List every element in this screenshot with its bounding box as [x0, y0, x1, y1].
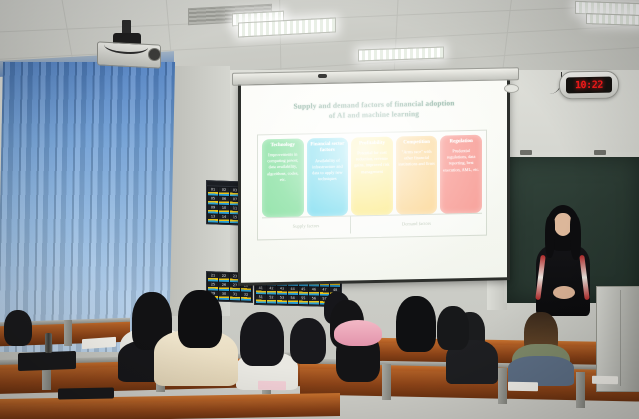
device-slot[interactable]: 32 — [241, 292, 251, 300]
slide-columns: Technology Improvements in computing pow… — [258, 131, 486, 218]
student-head-l2 — [178, 290, 222, 348]
clock-time-text: 10:22 — [575, 79, 603, 90]
student-head-l4-far — [4, 310, 32, 346]
slide-column-technology: Technology Improvements in computing pow… — [262, 138, 304, 217]
device-slot[interactable]: 54 — [288, 296, 298, 304]
projection-screen: Supply and demand factors of financial a… — [241, 79, 507, 283]
clock-display: 10:22 — [566, 77, 612, 94]
desk-row-right-post-b — [498, 368, 507, 404]
slide-column-regulation: Regulation Prudential regulations, data … — [440, 135, 482, 214]
column-body: "Arms race" with other financial institu… — [398, 149, 436, 168]
device-slot[interactable]: 56 — [309, 296, 319, 304]
slide-column-financial-sector-factors: Financial sector factors Availability of… — [307, 138, 349, 217]
presenter-hair-strand-right — [570, 216, 581, 260]
device-slot[interactable]: 14 — [219, 215, 229, 223]
chalkboard-clip-right-icon — [594, 150, 606, 155]
device-slot[interactable]: 02 — [219, 188, 229, 196]
slide-column-profitability: Profitability Potential for cost reducti… — [351, 137, 393, 216]
paper-sheet-right[interactable] — [592, 376, 618, 384]
projector-lens-icon — [148, 48, 161, 61]
paper-sheet-mid[interactable] — [508, 382, 538, 392]
lectern-edge — [620, 290, 621, 386]
device-slot[interactable]: 21 — [208, 273, 218, 281]
device-slot[interactable]: 41 — [256, 286, 266, 294]
paper-sheet-pink[interactable] — [258, 381, 286, 390]
pink-beret-hat — [334, 320, 382, 346]
device-slot[interactable]: 53 — [277, 295, 287, 303]
student-head-r2 — [396, 296, 436, 352]
slide-factor-matrix: Technology Improvements in computing pow… — [257, 130, 487, 241]
device-slot[interactable]: 45 — [299, 287, 309, 295]
device-slot[interactable]: 10 — [219, 206, 229, 214]
device-slot[interactable]: 01 — [208, 187, 218, 195]
thermos-bottle[interactable] — [45, 333, 52, 353]
column-body: Availability of infrastructure and data … — [309, 157, 347, 182]
ceiling-light-5 — [586, 13, 639, 26]
presenter-hair-strand-left — [545, 216, 555, 258]
presenter-hands — [553, 286, 575, 299]
device-slot[interactable]: 06 — [219, 197, 229, 205]
column-heading: Technology — [271, 143, 295, 150]
device-slot[interactable]: 51 — [256, 295, 266, 303]
chalkboard-clip-left-icon — [520, 150, 532, 155]
projection-screen-frame: Supply and demand factors of financial a… — [238, 76, 510, 286]
device-slot[interactable]: 22 — [219, 274, 229, 282]
device-slot[interactable]: 44 — [288, 287, 298, 295]
column-heading: Profitability — [359, 141, 385, 148]
student-head-r3 — [437, 306, 469, 350]
device-slot[interactable]: 43 — [277, 286, 287, 294]
device-slot[interactable]: 30 — [219, 292, 229, 300]
laptop-bag[interactable] — [18, 351, 76, 371]
device-slot[interactable]: 09 — [208, 205, 218, 213]
footer-supply-label: Supply factors — [262, 216, 350, 236]
desk-row-3-post — [64, 320, 72, 346]
desk-row-right-post-c — [576, 372, 585, 408]
column-body: Prudential regulations, data reporting, … — [442, 148, 480, 173]
presentation-slide: Supply and demand factors of financial a… — [241, 79, 507, 283]
column-heading: Competition — [403, 140, 430, 147]
device-slot[interactable]: 52 — [267, 295, 277, 303]
column-body: Potential for cost reduction, revenue ga… — [353, 150, 391, 175]
lecture-hall-photo: 10:22 Supply and demand factors of finan… — [0, 0, 639, 419]
device-slot[interactable]: 42 — [267, 286, 277, 294]
slide-title: Supply and demand factors of financial a… — [251, 97, 497, 123]
column-heading: Regulation — [450, 139, 473, 146]
device-slot[interactable]: 25 — [208, 282, 218, 290]
screen-roller-knob-icon[interactable] — [318, 74, 327, 78]
device-slot[interactable]: 55 — [299, 296, 309, 304]
device-slot[interactable]: 31 — [230, 292, 240, 300]
tablet-device[interactable] — [58, 388, 114, 400]
desk-row-right-post-a — [382, 364, 391, 400]
slide-column-competition: Competition "Arms race" with other finan… — [396, 136, 438, 215]
wall-clock: 10:22 — [559, 70, 619, 99]
student-head-l3 — [240, 312, 284, 366]
column-heading: Financial sector factors — [309, 142, 347, 155]
student-head-m1 — [290, 318, 326, 364]
device-slot[interactable]: 46 — [309, 287, 319, 295]
smoke-detector-icon — [504, 84, 519, 93]
device-slot[interactable]: 13 — [208, 214, 218, 222]
slide-footer-groups: Supply factors Demand factors — [258, 213, 486, 236]
footer-demand-label: Demand factors — [350, 213, 482, 234]
device-slot[interactable]: 05 — [208, 196, 218, 204]
column-body: Improvements in computing power, data av… — [264, 152, 302, 183]
device-slot[interactable]: 26 — [219, 283, 229, 291]
